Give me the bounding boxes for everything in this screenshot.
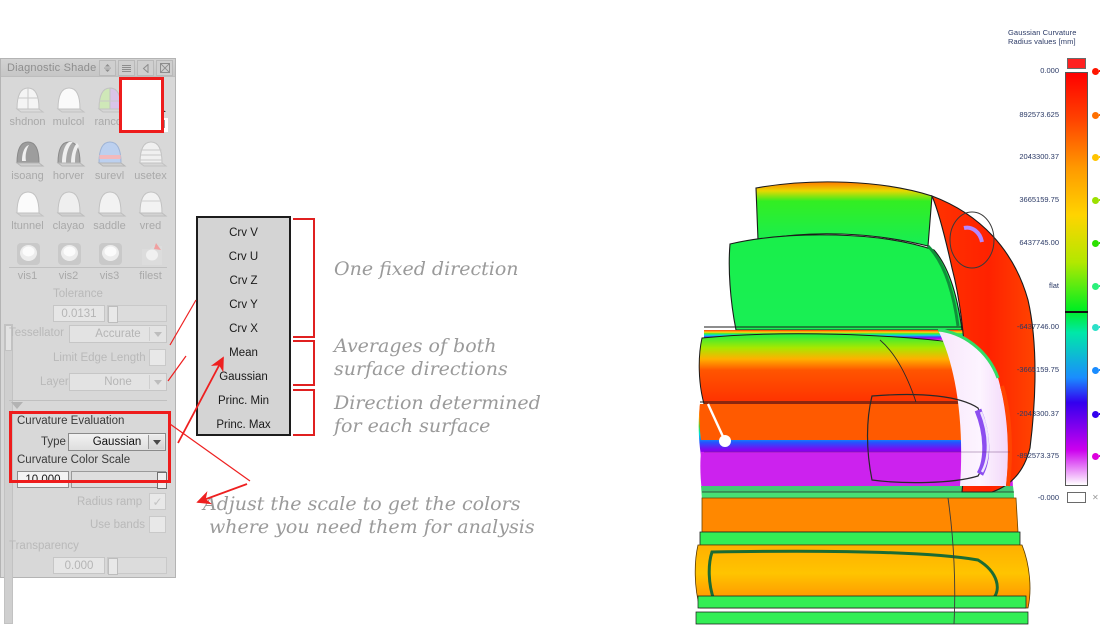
layer-select[interactable]: None — [69, 373, 167, 391]
legend-tick-label: -6437746.00 — [1007, 322, 1059, 331]
tessellator-label: Tessellator — [9, 327, 64, 339]
legend-tick-label: -2043300.37 — [1007, 409, 1059, 418]
legend-title: Gaussian CurvatureRadius values [mm] — [1008, 28, 1100, 46]
mode-label: usetex — [130, 169, 171, 183]
menu-item-princ-max[interactable]: Princ. Max — [198, 413, 289, 437]
horver-icon — [48, 133, 89, 169]
tolerance-input[interactable]: 0.0131 — [53, 305, 105, 322]
mode-label: saddle — [89, 219, 130, 233]
filest-icon — [130, 233, 171, 269]
curvature-color-scale-input[interactable]: 10.000 — [17, 471, 69, 488]
menu-item-princ-min[interactable]: Princ. Min — [198, 389, 289, 413]
legend-tick-label: 0.000 — [1007, 66, 1059, 75]
legend-tick-marker[interactable]: ✕ — [1092, 451, 1100, 461]
legend-tick-label: flat — [1007, 281, 1059, 290]
curvature-type-dropdown-menu[interactable]: Crv V Crv U Crv Z Crv Y Crv X Mean Gauss… — [196, 216, 291, 436]
mode-label: isoang — [7, 169, 48, 183]
mode-button-ltunnel[interactable]: ltunnel — [7, 183, 48, 233]
legend-tick-marker[interactable]: ✕ — [1092, 152, 1100, 162]
vred-icon — [130, 183, 171, 219]
layer-value: None — [104, 376, 132, 388]
chevron-down-icon[interactable] — [149, 327, 165, 341]
limit-edge-length-label: Limit Edge Length — [53, 352, 146, 364]
legend-tick-marker[interactable]: ✕ — [1092, 110, 1100, 120]
mode-button-surevl[interactable]: surevl — [89, 133, 130, 183]
collapse-section-icon[interactable] — [11, 402, 23, 409]
transparency-label: Transparency — [9, 540, 79, 552]
mode-button-saddle[interactable]: saddle — [89, 183, 130, 233]
mode-button-vis2[interactable]: vis2 — [48, 233, 89, 283]
legend-tick-marker[interactable]: ✕ — [1092, 409, 1100, 419]
clayao-icon — [48, 183, 89, 219]
selected-mode-highlight — [119, 77, 164, 133]
chevron-down-icon[interactable] — [149, 375, 165, 389]
chevron-down-icon[interactable] — [148, 435, 164, 449]
tolerance-label: Tolerance — [53, 288, 103, 300]
tessellator-select[interactable]: Accurate — [69, 325, 167, 343]
tolerance-slider-thumb[interactable] — [108, 306, 118, 323]
curvature-color-scale-slider-thumb[interactable] — [157, 472, 167, 489]
bracket-direction — [293, 389, 315, 436]
legend-cap-bottom — [1067, 492, 1086, 503]
panel-scrollbar[interactable] — [4, 324, 13, 624]
menu-item-crv-z[interactable]: Crv Z — [198, 269, 289, 293]
divider — [9, 400, 167, 401]
tessellator-value: Accurate — [95, 328, 140, 340]
mode-button-isoang[interactable]: isoang — [7, 133, 48, 183]
legend-tick-label: 2043300.37 — [1007, 152, 1059, 161]
panel-title: Diagnostic Shade — [7, 62, 96, 74]
legend-tick-label: 892573.625 — [1007, 110, 1059, 119]
mode-button-usetex[interactable]: usetex — [130, 133, 171, 183]
menu-item-gaussian[interactable]: Gaussian — [198, 365, 289, 389]
legend-tick-marker[interactable]: ✕ — [1092, 238, 1100, 248]
mode-label: vis3 — [89, 269, 130, 283]
icon-row: vis1 vis2 — [7, 233, 171, 283]
divider — [9, 267, 167, 268]
check-icon: ✓ — [152, 495, 162, 509]
resize-vertical-icon[interactable] — [99, 60, 116, 76]
legend-tick-marker[interactable]: ✕ — [1092, 281, 1100, 291]
close-icon[interactable] — [156, 60, 173, 76]
vis2-icon — [48, 233, 89, 269]
mode-button-filest[interactable]: filest — [130, 233, 171, 283]
annotation-direction-determined: Direction determined for each surface — [334, 392, 541, 438]
mode-button-vis3[interactable]: vis3 — [89, 233, 130, 283]
panel-titlebar: Diagnostic Shade — [1, 59, 175, 77]
mode-button-vis1[interactable]: vis1 — [7, 233, 48, 283]
bracket-averages — [293, 340, 315, 386]
vis1-icon — [7, 233, 48, 269]
mulcol-icon — [48, 79, 89, 115]
transparency-slider-thumb[interactable] — [108, 558, 118, 575]
annotation-averages-of-both: Averages of both surface directions — [334, 335, 508, 381]
curvature-type-value: Gaussian — [93, 436, 142, 448]
collapse-left-icon[interactable] — [137, 60, 154, 76]
radius-ramp-label: Radius ramp — [77, 496, 142, 508]
transparency-input[interactable]: 0.000 — [53, 557, 105, 574]
legend-flat-marker — [1065, 311, 1088, 313]
mode-label: vis2 — [48, 269, 89, 283]
menu-item-crv-u[interactable]: Crv U — [198, 245, 289, 269]
annotation-one-fixed-direction: One fixed direction — [334, 258, 519, 281]
mode-label: mulcol — [48, 115, 89, 129]
menu-item-crv-y[interactable]: Crv Y — [198, 293, 289, 317]
mode-label: vis1 — [7, 269, 48, 283]
mode-label: shdnon — [7, 115, 48, 129]
legend-tick-marker[interactable]: ✕ — [1092, 322, 1100, 332]
annotation-adjust-scale: Adjust the scale to get the colors where… — [203, 493, 535, 539]
diagnostic-shade-panel: Diagnostic Shade — [0, 58, 176, 578]
mode-button-mulcol[interactable]: mulcol — [48, 79, 89, 133]
mode-button-horver[interactable]: horver — [48, 133, 89, 183]
curvature-color-scale-label: Curvature Color Scale — [17, 454, 130, 466]
mode-button-vred[interactable]: vred — [130, 183, 171, 233]
menu-icon[interactable] — [118, 60, 135, 76]
use-bands-checkbox[interactable] — [149, 516, 166, 533]
tolerance-slider[interactable] — [107, 305, 167, 322]
icon-row: isoang horver — [7, 133, 171, 183]
mode-label: filest — [130, 269, 171, 283]
curvature-type-select[interactable]: Gaussian — [68, 433, 166, 451]
mode-label: horver — [48, 169, 89, 183]
transparency-slider[interactable] — [107, 557, 167, 574]
legend-tick-marker[interactable]: ✕ — [1092, 66, 1100, 76]
mode-label: ltunnel — [7, 219, 48, 233]
legend-tick-label: 3665159.75 — [1007, 195, 1059, 204]
ltunnel-icon — [7, 183, 48, 219]
layer-label: Layer — [40, 376, 69, 388]
icon-row: ltunnel clayao saddle — [7, 183, 171, 233]
use-bands-label: Use bands — [90, 519, 145, 531]
shdnon-icon — [7, 79, 48, 115]
limit-edge-length-checkbox[interactable] — [149, 349, 166, 366]
surevl-icon — [89, 133, 130, 169]
usetex-icon — [130, 133, 171, 169]
radius-ramp-checkbox[interactable]: ✓ — [149, 493, 166, 510]
vis3-icon — [89, 233, 130, 269]
bracket-fixed-direction — [293, 218, 315, 338]
legend-tick-label: -0.000 — [1007, 493, 1059, 502]
type-label: Type — [41, 436, 66, 448]
isoang-icon — [7, 133, 48, 169]
legend-color-bar — [1065, 72, 1088, 486]
curvature-legend: Gaussian CurvatureRadius values [mm] 0.0… — [1008, 28, 1100, 518]
legend-tick-label: 6437745.00 — [1007, 238, 1059, 247]
curvature-color-scale-slider[interactable] — [71, 471, 166, 488]
menu-item-crv-x[interactable]: Crv X — [198, 317, 289, 341]
mode-label: vred — [130, 219, 171, 233]
menu-item-crv-v[interactable]: Crv V — [198, 221, 289, 245]
legend-tick-marker[interactable]: ✕ — [1092, 493, 1099, 502]
legend-tick-marker[interactable]: ✕ — [1092, 365, 1100, 375]
curvature-evaluation-label: Curvature Evaluation — [17, 415, 124, 427]
saddle-icon — [89, 183, 130, 219]
mode-label: surevl — [89, 169, 130, 183]
legend-tick-label: -3665159.75 — [1007, 365, 1059, 374]
mode-button-clayao[interactable]: clayao — [48, 183, 89, 233]
legend-tick-marker[interactable]: ✕ — [1092, 195, 1100, 205]
legend-tick-label: -892573.375 — [1007, 451, 1059, 460]
menu-item-mean[interactable]: Mean — [198, 341, 289, 365]
legend-cap-top — [1067, 58, 1086, 69]
mode-label: clayao — [48, 219, 89, 233]
mode-button-shdnon[interactable]: shdnon — [7, 79, 48, 133]
